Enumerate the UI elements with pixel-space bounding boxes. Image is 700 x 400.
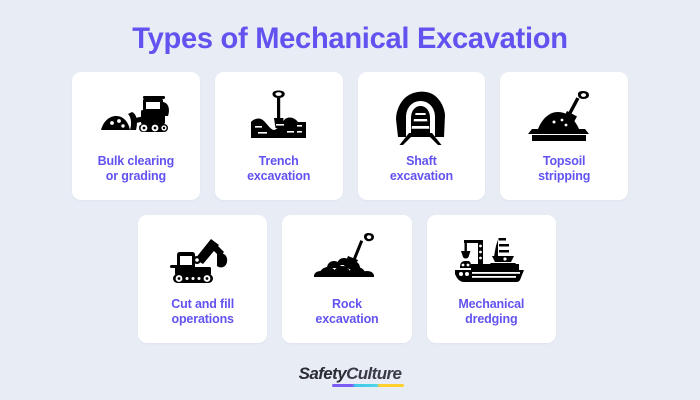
card-label: Trench excavation xyxy=(218,154,340,184)
card-trench-excavation[interactable]: Trench excavation xyxy=(215,72,343,200)
rock-pile-shovel-icon xyxy=(308,229,386,291)
card-row-bottom: Cut and fill operations xyxy=(138,215,556,343)
card-label-line2: excavation xyxy=(218,169,340,184)
card-label-line1: Rock xyxy=(332,297,362,311)
bulldozer-icon xyxy=(97,86,175,148)
footer-branding: SafetyCulture xyxy=(0,364,700,387)
card-shaft-excavation[interactable]: Shaft excavation xyxy=(358,72,486,200)
card-label-line2: operations xyxy=(142,312,264,327)
card-label-line1: Trench xyxy=(259,154,299,168)
logo-gradient-underline xyxy=(332,384,404,387)
card-label-line1: Cut and fill xyxy=(171,297,234,311)
card-label: Rock excavation xyxy=(286,297,408,327)
card-rock-excavation[interactable]: Rock excavation xyxy=(282,215,411,343)
logo-text-culture: Culture xyxy=(346,364,401,383)
card-label-line2: stripping xyxy=(503,169,625,184)
card-label-line1: Bulk clearing xyxy=(98,154,175,168)
card-mechanical-dredging[interactable]: Mechanical dredging xyxy=(427,215,556,343)
card-label-line1: Mechanical xyxy=(458,297,524,311)
infographic-page: Types of Mechanical Excavation xyxy=(0,0,700,400)
card-label-line2: or grading xyxy=(75,169,197,184)
card-topsoil-stripping[interactable]: Topsoil stripping xyxy=(500,72,628,200)
card-bulk-clearing[interactable]: Bulk clearing or grading xyxy=(72,72,200,200)
excavator-icon xyxy=(164,229,242,291)
card-label-line2: dredging xyxy=(430,312,552,327)
trench-shovel-icon xyxy=(240,86,318,148)
card-label-line1: Topsoil xyxy=(543,154,585,168)
card-row-top: Bulk clearing or grading xyxy=(72,72,628,200)
card-cut-and-fill[interactable]: Cut and fill operations xyxy=(138,215,267,343)
card-label-line2: excavation xyxy=(286,312,408,327)
card-label-line2: excavation xyxy=(360,169,482,184)
dredging-ship-icon xyxy=(452,229,530,291)
card-label: Topsoil stripping xyxy=(503,154,625,184)
logo-text-safety: Safety xyxy=(299,364,346,383)
soil-mound-shovel-icon xyxy=(525,86,603,148)
card-label: Cut and fill operations xyxy=(142,297,264,327)
card-label: Shaft excavation xyxy=(360,154,482,184)
safetyculture-logo: SafetyCulture xyxy=(299,364,402,383)
card-label: Mechanical dredging xyxy=(430,297,552,327)
page-title: Types of Mechanical Excavation xyxy=(11,22,690,56)
card-label: Bulk clearing or grading xyxy=(75,154,197,184)
mine-shaft-tunnel-icon xyxy=(382,86,460,148)
card-label-line1: Shaft xyxy=(406,154,437,168)
